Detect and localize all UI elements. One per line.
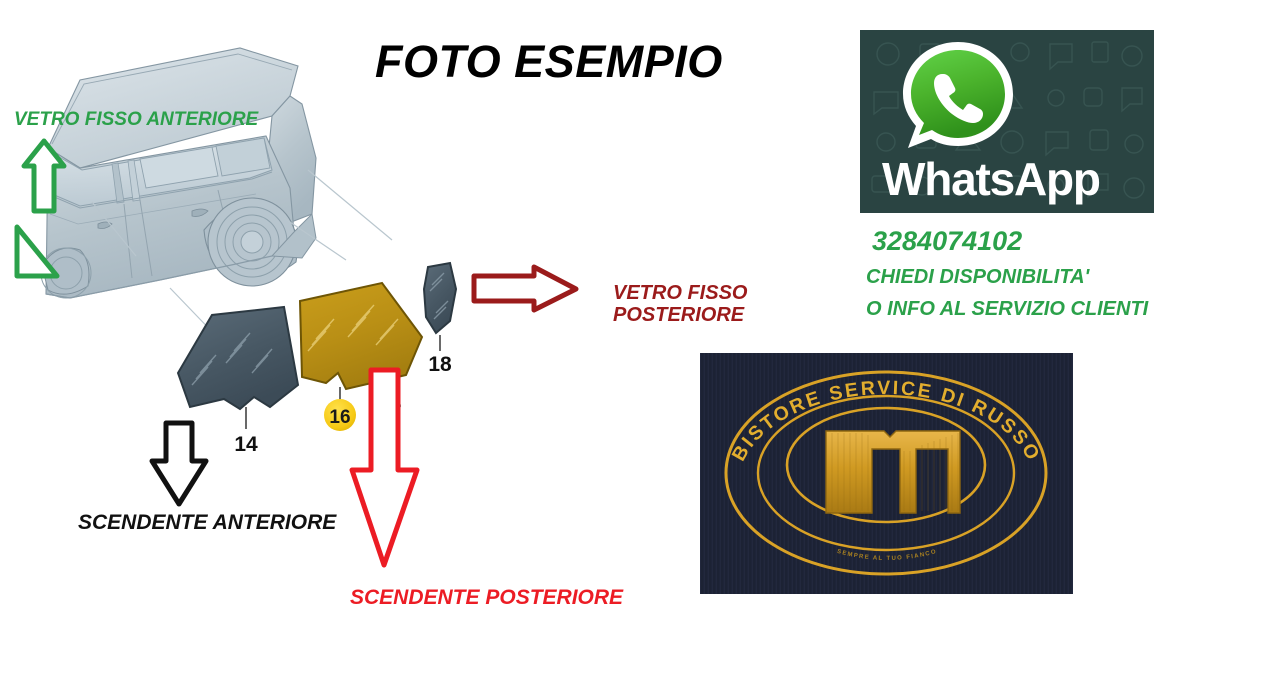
screenshot-canvas: 14 16 17 18 FOTO ESEMPIO VETRO FISSO ANT… [0,0,1264,678]
contact-line-1: CHIEDI DISPONIBILITA' [866,266,1089,289]
part-number-16: 16 [329,407,350,428]
part-18-shape [424,263,456,351]
part-16-shape [300,283,422,407]
exploded-parts-diagram: 14 16 17 18 [150,255,510,455]
part-number-14: 14 [234,433,258,456]
part-17-shape [372,370,399,401]
part-number-17: 17 [378,401,401,424]
part-number-18: 18 [428,353,452,376]
contact-line-2: O INFO AL SERVIZIO CLIENTI [866,298,1148,321]
label-vetro-fisso-posteriore: VETRO FISSO POSTERIORE [613,282,747,327]
phone-number[interactable]: 3284074102 [872,226,1022,257]
whatsapp-wordmark: WhatsApp [882,156,1100,202]
shop-logo-banner: MRICAMBISTORE SERVICE DI RUSSO MARCO SEM… [700,353,1073,594]
label-vetro-fisso-posteriore-line1: VETRO FISSO [613,282,747,304]
page-title: FOTO ESEMPIO [375,36,723,88]
label-scendente-anteriore: SCENDENTE ANTERIORE [78,511,336,535]
label-scendente-posteriore: SCENDENTE POSTERIORE [350,586,623,610]
whatsapp-banner: WhatsApp [860,30,1154,213]
label-vetro-fisso-posteriore-line2: POSTERIORE [613,304,747,326]
label-vetro-fisso-anteriore: VETRO FISSO ANTERIORE [14,109,258,130]
part-14-shape [178,307,298,429]
whatsapp-logo [896,36,1020,160]
